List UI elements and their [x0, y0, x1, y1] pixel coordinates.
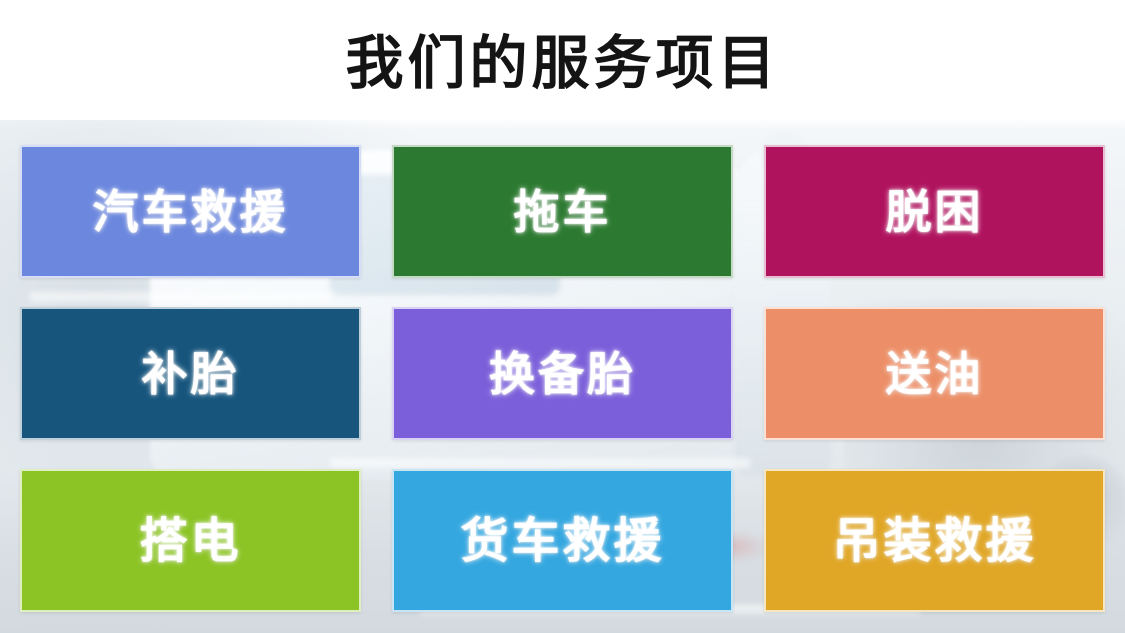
service-tile-crane-rescue[interactable]: 吊装救援	[764, 469, 1105, 612]
service-tile-spare-tire[interactable]: 换备胎	[392, 307, 733, 440]
service-tile-jump-start[interactable]: 搭电	[20, 469, 361, 612]
service-tile-label: 吊装救援	[832, 517, 1036, 565]
service-tile-label: 搭电	[139, 517, 241, 565]
service-tile-label: 送油	[886, 351, 984, 397]
service-tile-towing[interactable]: 拖车	[392, 145, 733, 278]
service-tile-label: 补胎	[142, 351, 240, 397]
header-bar: 我们的服务项目	[0, 0, 1125, 120]
service-tile-tire-repair[interactable]: 补胎	[20, 307, 361, 440]
service-tile-truck-rescue[interactable]: 货车救援	[392, 469, 733, 612]
service-tile-extrication[interactable]: 脱困	[764, 145, 1105, 278]
service-tile-label: 拖车	[514, 189, 612, 235]
service-menu-screen: 我们的服务项目 汽车救援 拖车 脱困 补胎 换备胎 送油 搭电 货车救援	[0, 0, 1125, 633]
service-grid: 汽车救援 拖车 脱困 补胎 换备胎 送油 搭电 货车救援 吊装救援	[20, 145, 1105, 623]
page-title: 我们的服务项目	[345, 34, 779, 92]
service-tile-label: 换备胎	[489, 351, 636, 397]
service-tile-car-rescue[interactable]: 汽车救援	[20, 145, 361, 278]
service-tile-label: 汽车救援	[93, 189, 289, 235]
service-tile-label: 货车救援	[460, 517, 664, 565]
service-tile-fuel-delivery[interactable]: 送油	[764, 307, 1105, 440]
service-tile-label: 脱困	[886, 189, 984, 235]
